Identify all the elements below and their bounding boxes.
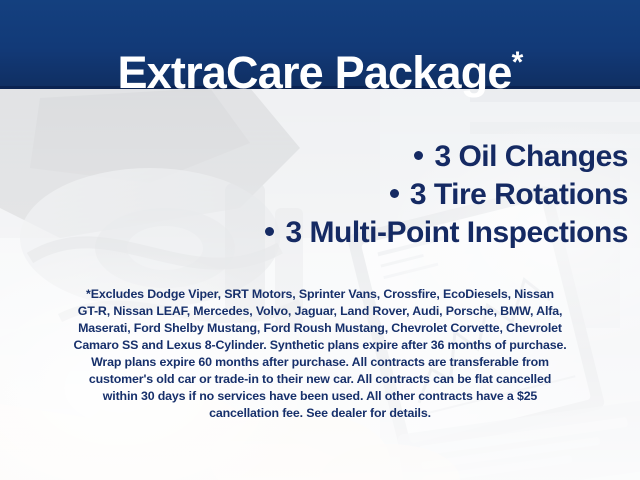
page-title-text: ExtraCare Package: [117, 47, 511, 98]
disclaimer-line: Maserati, Ford Shelby Mustang, Ford Rous…: [26, 320, 614, 337]
benefit-label: 3 Multi-Point Inspections: [285, 216, 628, 249]
disclaimer-fine-print: *Excludes Dodge Viper, SRT Motors, Sprin…: [26, 286, 614, 422]
disclaimer-line: within 30 days if no services have been …: [26, 388, 614, 405]
benefit-label: 3 Tire Rotations: [410, 178, 628, 211]
disclaimer-line: Camaro SS and Lexus 8-Cylinder. Syntheti…: [26, 337, 614, 354]
bullet-icon: [265, 227, 274, 236]
bullet-icon: [390, 189, 399, 198]
disclaimer-line: customer's old car or trade-in to their …: [26, 371, 614, 388]
extracare-package-ad: ExtraCare Package* 3 Oil Changes 3 Tire …: [0, 0, 640, 480]
list-item: 3 Tire Rotations: [0, 176, 628, 214]
list-item: 3 Multi-Point Inspections: [0, 214, 628, 252]
bullet-icon: [414, 151, 423, 160]
list-item: 3 Oil Changes: [0, 138, 628, 176]
benefits-list: 3 Oil Changes 3 Tire Rotations 3 Multi-P…: [0, 138, 640, 252]
disclaimer-line: GT-R, Nissan LEAF, Mercedes, Volvo, Jagu…: [26, 303, 614, 320]
disclaimer-line: Wrap plans expire 60 months after purcha…: [26, 354, 614, 371]
benefit-label: 3 Oil Changes: [434, 140, 628, 173]
disclaimer-line: *Excludes Dodge Viper, SRT Motors, Sprin…: [26, 286, 614, 303]
page-title-asterisk: *: [512, 46, 523, 79]
disclaimer-line: cancellation fee. See dealer for details…: [26, 405, 614, 422]
page-title: ExtraCare Package*: [0, 44, 640, 102]
